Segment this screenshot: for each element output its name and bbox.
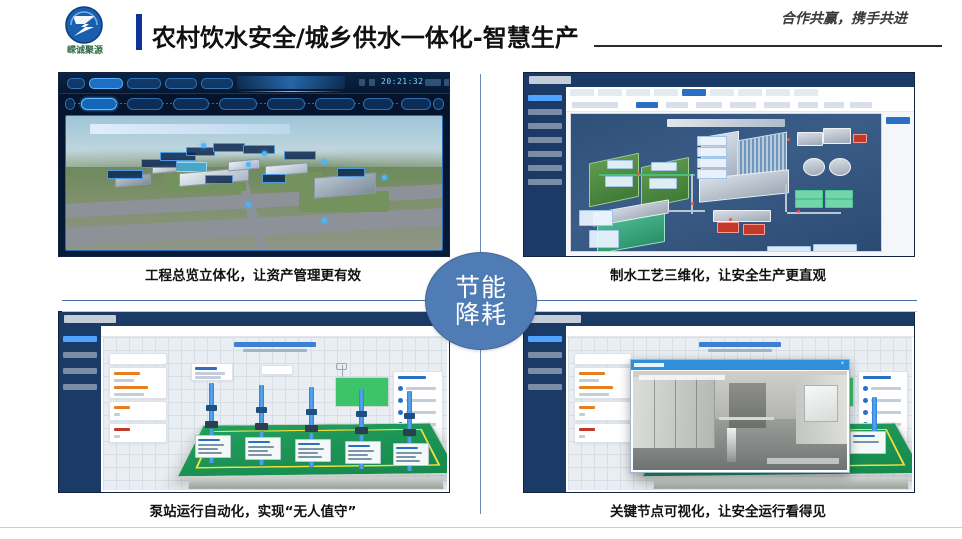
valve-icon[interactable]	[404, 413, 415, 419]
app-header-bar	[524, 312, 914, 326]
app-content	[566, 87, 914, 256]
pump-unit-5[interactable]	[864, 397, 886, 483]
status-label	[406, 387, 436, 390]
callout-box[interactable]	[697, 136, 727, 146]
card-line	[198, 448, 218, 450]
search-icon[interactable]	[359, 79, 365, 86]
process-nav-integrated[interactable]	[219, 98, 257, 110]
tab-pump-house[interactable]	[738, 89, 762, 96]
dosing-unit[interactable]	[823, 128, 851, 144]
info-panel-flow[interactable]	[109, 367, 167, 399]
screenshot-pump-station[interactable]	[58, 311, 450, 493]
screenshot-process-flow[interactable]	[523, 72, 915, 257]
info-panel-flow[interactable]	[574, 367, 632, 399]
status-dot[interactable]	[797, 210, 800, 213]
panel-key-node-video[interactable]: ×	[523, 311, 953, 520]
callout-box[interactable]	[605, 176, 633, 187]
screenshot-video-modal[interactable]: ×	[523, 311, 915, 493]
pump-station-3d-scene[interactable]	[103, 337, 447, 490]
info-label	[579, 386, 613, 389]
nav-connector	[304, 103, 314, 104]
pump-unit-1[interactable]	[201, 383, 223, 475]
video-osd-bottom	[767, 458, 839, 464]
sidebar-item-sedimentation[interactable]	[528, 137, 562, 143]
switchgear-cabinets	[633, 377, 715, 448]
callout-box[interactable]	[697, 147, 727, 157]
status-dot[interactable]	[637, 172, 640, 175]
scene-title	[234, 342, 316, 347]
pump-unit-4[interactable]	[351, 389, 373, 481]
info-label	[114, 386, 148, 389]
card-title	[248, 441, 270, 443]
motor-icon	[255, 423, 268, 430]
app-sidebar[interactable]	[524, 326, 566, 492]
pipe-segment	[785, 184, 787, 212]
sidebar-item-pump-house[interactable]	[528, 179, 562, 185]
divider-rule-right-primary	[527, 300, 917, 301]
subtab-flow-diagram[interactable]	[636, 102, 658, 108]
close-icon[interactable]: ×	[840, 362, 845, 367]
info-value	[579, 379, 599, 382]
scada-app-title	[237, 76, 345, 89]
map-marker-label[interactable]	[213, 143, 245, 152]
status-dot[interactable]	[729, 218, 732, 221]
tooltip-title	[195, 367, 217, 370]
callout-box-green[interactable]	[795, 190, 823, 199]
sidebar-item-filter[interactable]	[528, 151, 562, 157]
pump-data-card[interactable]	[195, 435, 231, 458]
badge-line-1: 节能	[455, 274, 507, 301]
card-title	[853, 435, 875, 437]
header-tagline: 合作共赢，携手共进	[781, 8, 907, 28]
map-node-dot[interactable]	[322, 159, 327, 164]
pipe-segment	[691, 174, 693, 214]
panel-treatment-process[interactable]: 制水工艺三维化，让安全生产更直观	[523, 72, 953, 284]
process-nav-sludge-thickener[interactable]	[267, 98, 305, 110]
map-marker-label[interactable]	[284, 151, 316, 160]
weather-readout	[444, 79, 450, 86]
card-line	[348, 450, 374, 452]
alarm-count	[579, 413, 585, 416]
sidebar-item-alarms[interactable]	[63, 368, 97, 374]
logo-wordmark: 嵘诚聚源	[47, 43, 123, 56]
doorway	[729, 383, 765, 429]
pump-manifold[interactable]	[713, 210, 771, 222]
card-line	[248, 454, 272, 456]
subtab-dewater[interactable]	[764, 102, 790, 108]
fault-label	[114, 428, 130, 431]
badge-line-2: 降耗	[455, 301, 507, 328]
company-logo: 嵘诚聚源	[47, 5, 123, 57]
guard-rail	[719, 417, 775, 420]
callout-box[interactable]	[813, 244, 857, 252]
map-marker-label[interactable]	[243, 145, 275, 154]
map-marker-label[interactable]	[205, 175, 233, 184]
riser-pipe	[407, 391, 412, 433]
dosing-skid[interactable]	[797, 132, 823, 146]
tab-clearwell[interactable]	[710, 89, 734, 96]
app-brand-title	[64, 315, 116, 323]
map-marker-label[interactable]	[262, 174, 287, 183]
nav-pill-pipe-network[interactable]	[127, 78, 161, 89]
z-emblem-icon	[60, 5, 108, 45]
date-readout	[425, 79, 441, 86]
card-line	[248, 446, 274, 448]
station-select[interactable]	[109, 353, 167, 365]
tab-video[interactable]	[794, 89, 818, 96]
video-osd-top	[639, 375, 725, 380]
device-status-title	[863, 376, 891, 379]
card-line	[248, 450, 268, 452]
subtab-thickener[interactable]	[730, 102, 756, 108]
map-marker-label[interactable]	[337, 168, 365, 177]
tab-overview[interactable]	[570, 89, 594, 96]
fault-count	[114, 435, 120, 438]
pump-station-3d-scene[interactable]: ×	[568, 337, 912, 490]
panel-engineering-overview[interactable]: 20:21:32	[58, 72, 488, 284]
valve-icon[interactable]	[356, 411, 367, 417]
info-label	[579, 372, 605, 375]
nav-next-arrow[interactable]	[433, 98, 444, 110]
app-header-bar	[59, 312, 449, 326]
tab-sediment[interactable]	[654, 89, 678, 96]
center-badge: 节能 降耗	[425, 252, 537, 350]
sidebar-item-dosing[interactable]	[528, 123, 562, 129]
panel-caption: 制水工艺三维化，让安全生产更直观	[523, 264, 913, 284]
tab-sludge[interactable]	[766, 89, 790, 96]
thickener-1[interactable]	[803, 158, 825, 176]
riser-pipe	[359, 389, 364, 431]
flow-diagram-title	[667, 119, 785, 127]
callout-box[interactable]	[651, 162, 677, 171]
app-brand-title	[529, 315, 581, 323]
tooltip-line	[195, 372, 225, 375]
pump-data-card[interactable]	[345, 441, 381, 464]
valve-icon[interactable]	[206, 405, 217, 411]
motor-icon	[403, 429, 416, 436]
nav-pill-home[interactable]	[67, 78, 85, 89]
sidebar-item-intake[interactable]	[528, 109, 562, 115]
slide-root: 嵘诚聚源 农村饮水安全/城乡供水一体化-智慧生产 合作共赢，携手共进 20:21…	[0, 0, 962, 539]
fault-panel[interactable]	[109, 423, 167, 443]
map-node-dot[interactable]	[322, 218, 327, 223]
sidebar-item-alarms[interactable]	[528, 368, 562, 374]
crane-hook-icon	[336, 363, 347, 370]
nav-connector	[354, 103, 362, 104]
nav-connector	[74, 103, 80, 104]
card-line	[198, 452, 222, 454]
process-flow-canvas[interactable]	[570, 113, 882, 252]
nav-connector	[256, 103, 266, 104]
alarm-count	[114, 413, 120, 416]
modal-header: ×	[631, 360, 849, 370]
process-nav-dosing[interactable]	[363, 98, 393, 110]
motor-icon	[355, 427, 368, 434]
status-dot[interactable]	[787, 138, 790, 141]
pump-data-card[interactable]	[393, 443, 429, 466]
alarm-panel[interactable]	[574, 401, 632, 421]
process-nav-intake[interactable]	[173, 98, 209, 110]
info-value	[114, 393, 144, 396]
callout-box-green[interactable]	[825, 199, 853, 208]
fault-label	[579, 428, 595, 431]
info-value	[114, 379, 134, 382]
riser-pipe	[259, 385, 264, 427]
tab-intake[interactable]	[598, 89, 622, 96]
process-nav-flow[interactable]	[127, 98, 163, 110]
device-status-row[interactable]	[863, 386, 903, 391]
card-line	[298, 456, 322, 458]
cabinet-seam	[696, 377, 697, 448]
cabinet-seam	[654, 377, 655, 448]
card-title	[298, 443, 320, 445]
panel-pump-station[interactable]: 泵站运行自动化，实现“无人值守”	[58, 311, 488, 520]
title-underline-rule	[594, 45, 942, 47]
sidebar-item-pump-monitor[interactable]	[63, 336, 97, 342]
callout-box[interactable]	[767, 246, 811, 252]
motor-icon	[305, 425, 318, 432]
pump-unit-3[interactable]	[301, 387, 323, 479]
map-node-dot[interactable]	[262, 151, 267, 156]
nav-pill-operations[interactable]	[165, 78, 197, 89]
sidebar-item-smart-plant[interactable]	[528, 95, 562, 101]
sub-tab-bar[interactable]	[566, 98, 914, 112]
pipe-segment	[667, 210, 705, 212]
valve-icon[interactable]	[306, 409, 317, 415]
nav-connector	[392, 103, 400, 104]
app-content: ×	[566, 326, 914, 492]
page-title: 农村饮水安全/城乡供水一体化-智慧生产	[152, 18, 579, 53]
callout-box[interactable]	[607, 160, 633, 169]
card-line	[348, 458, 372, 460]
value-chip[interactable]	[261, 365, 293, 375]
scene-refresh-time	[243, 349, 307, 352]
card-line	[198, 444, 224, 446]
pipe-segment	[787, 212, 841, 214]
card-title	[396, 447, 418, 449]
sidebar-item-statistics[interactable]	[63, 352, 97, 358]
device-status-title	[398, 376, 426, 379]
nav-prev-arrow[interactable]	[65, 98, 75, 110]
thickener-2[interactable]	[829, 158, 851, 176]
nav-connector	[162, 103, 172, 104]
sidebar-item-settings[interactable]	[528, 384, 562, 390]
process-nav-sludge-dewater[interactable]	[315, 98, 355, 110]
valve-icon[interactable]	[256, 407, 267, 413]
content-toolbar[interactable]	[566, 326, 914, 337]
pump-data-card[interactable]	[295, 439, 331, 462]
tooltip-line	[195, 376, 221, 379]
callout-box[interactable]	[579, 210, 613, 226]
sidebar-item-statistics[interactable]	[528, 352, 562, 358]
process-nav-overview[interactable]	[81, 98, 117, 110]
divider-rule-left-primary	[62, 300, 452, 301]
tab-dosing[interactable]	[626, 89, 650, 96]
status-dot	[863, 386, 868, 391]
app-sidebar[interactable]	[59, 326, 101, 492]
grid-icon[interactable]	[369, 79, 375, 86]
status-dot[interactable]	[691, 202, 694, 205]
subtab-integrated[interactable]	[696, 102, 722, 108]
callout-box[interactable]	[697, 158, 727, 168]
window	[804, 385, 838, 423]
subtab-intake[interactable]	[666, 102, 688, 108]
sidebar-item-settings[interactable]	[63, 384, 97, 390]
map-marker-label[interactable]	[107, 170, 143, 179]
subtab-pump[interactable]	[850, 102, 872, 108]
pump-unit-a[interactable]	[717, 222, 739, 233]
cabinet-seam	[675, 377, 676, 448]
scene-refresh-time	[708, 349, 772, 352]
divider-rule-left-secondary	[62, 311, 452, 312]
title-accent-bar	[136, 14, 142, 50]
pump-unit-5[interactable]	[399, 391, 421, 483]
card-line	[396, 452, 422, 454]
card-title	[198, 439, 220, 441]
scada-clock: 20:21:32	[381, 77, 424, 86]
card-line	[298, 448, 324, 450]
pump-unit-b[interactable]	[743, 224, 765, 235]
filter-select[interactable]	[572, 102, 618, 108]
riser-pipe	[209, 383, 214, 425]
fault-panel[interactable]	[574, 423, 632, 443]
info-label	[114, 372, 140, 375]
nav-connector	[116, 103, 126, 104]
app-header-bar	[524, 73, 914, 87]
alarm-label	[114, 406, 130, 409]
panel-caption: 泵站运行自动化，实现“无人值守”	[58, 500, 448, 520]
alarm-panel[interactable]	[109, 401, 167, 421]
tooltip-card[interactable]	[191, 363, 233, 381]
scene-title	[699, 342, 781, 347]
campus-scene-title	[90, 124, 290, 134]
callout-box[interactable]	[649, 178, 677, 189]
fault-count	[579, 435, 585, 438]
card-line	[348, 454, 368, 456]
slide-header: 嵘诚聚源 农村饮水安全/城乡供水一体化-智慧生产 合作共赢，携手共进	[0, 0, 962, 62]
content-toolbar[interactable]	[101, 326, 449, 337]
callout-box[interactable]	[589, 230, 619, 248]
nav-connector	[208, 103, 218, 104]
app-sidebar[interactable]	[524, 87, 566, 256]
pump-data-card[interactable]	[245, 437, 281, 460]
alarm-label	[579, 406, 595, 409]
nav-pill-smart-plant[interactable]	[89, 78, 123, 89]
card-line	[396, 460, 420, 462]
cctv-video-feed[interactable]	[633, 371, 847, 470]
campus-3d-view[interactable]	[65, 115, 443, 251]
panel-caption: 工程总览立体化，让资产管理更有效	[58, 264, 448, 284]
card-line	[298, 452, 318, 454]
subtab-clearwell[interactable]	[824, 102, 844, 108]
card-title	[348, 445, 370, 447]
nav-pill-utility[interactable]	[201, 78, 233, 89]
screenshot-scada-campus[interactable]: 20:21:32	[58, 72, 450, 257]
modal-title	[634, 363, 664, 367]
riser-pipe	[309, 387, 314, 429]
info-value	[579, 393, 609, 396]
status-label	[871, 387, 901, 390]
map-node-dot[interactable]	[382, 175, 387, 180]
map-marker-label[interactable]	[186, 147, 214, 156]
app-content	[101, 326, 449, 492]
divider-rule-right-secondary	[527, 311, 917, 312]
scada-process-nav[interactable]	[59, 95, 449, 111]
sidebar-item-clearwell[interactable]	[528, 165, 562, 171]
pump-data-card[interactable]	[850, 431, 886, 454]
pump-unit-2[interactable]	[251, 385, 273, 477]
panel-caption: 关键节点可视化，让安全运行看得见	[523, 500, 913, 520]
tab-flow-active[interactable]	[682, 89, 706, 96]
view-3d-button[interactable]	[886, 117, 910, 124]
app-brand-title	[529, 76, 571, 84]
process-nav-clearwell[interactable]	[401, 98, 431, 110]
subtab-dosing[interactable]	[798, 102, 818, 108]
motor-icon	[205, 421, 218, 428]
video-monitor-modal[interactable]: ×	[630, 359, 850, 473]
footer-rule	[0, 527, 962, 528]
callout-box[interactable]	[697, 169, 727, 179]
callout-box-green[interactable]	[795, 199, 823, 208]
card-line	[853, 441, 879, 443]
callout-box-green[interactable]	[825, 190, 853, 199]
sidebar-item-pump-monitor[interactable]	[528, 336, 562, 342]
chlorine-unit[interactable]	[853, 134, 867, 143]
card-line	[396, 456, 416, 458]
station-select[interactable]	[574, 353, 632, 365]
floor-reflection	[727, 428, 736, 462]
